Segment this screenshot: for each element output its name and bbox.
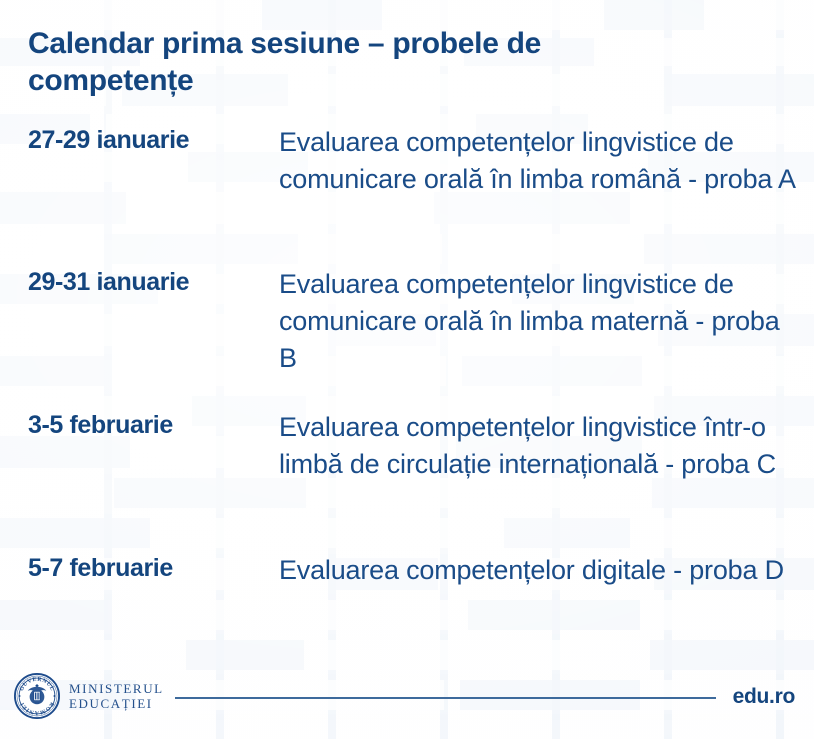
page-content: Calendar prima sesiune – probele de comp… [0,0,814,739]
infographic-page: Calendar prima sesiune – probele de comp… [0,0,814,739]
schedule-row-description: Evaluarea competențelor lingvistice de c… [279,124,804,198]
ministry-name-line2: EDUCAȚIEI [69,696,164,711]
ministry-logo: GUVERNUL ROMÂNIEI [14,673,164,719]
schedule-row-date: 29-31 ianuarie [28,268,268,297]
schedule-row-date: 5-7 februarie [28,554,268,583]
schedule-row-description: Evaluarea competențelor lingvistice de c… [279,266,804,377]
ministry-name: MINISTERUL EDUCAȚIEI [69,681,164,711]
schedule-row-date: 3-5 februarie [28,411,268,440]
footer-divider [175,697,716,699]
page-title: Calendar prima sesiune – probele de comp… [28,26,668,99]
schedule-row-description: Evaluarea competențelor lingvistice într… [279,409,804,483]
ministry-name-line1: MINISTERUL [69,681,164,696]
footer: GUVERNUL ROMÂNIEI [0,661,814,739]
schedule-row-date: 27-29 ianuarie [28,126,268,155]
romanian-government-seal-icon: GUVERNUL ROMÂNIEI [14,673,60,719]
schedule-row-description: Evaluarea competențelor digitale - proba… [279,552,804,589]
website-link[interactable]: edu.ro [733,685,795,709]
